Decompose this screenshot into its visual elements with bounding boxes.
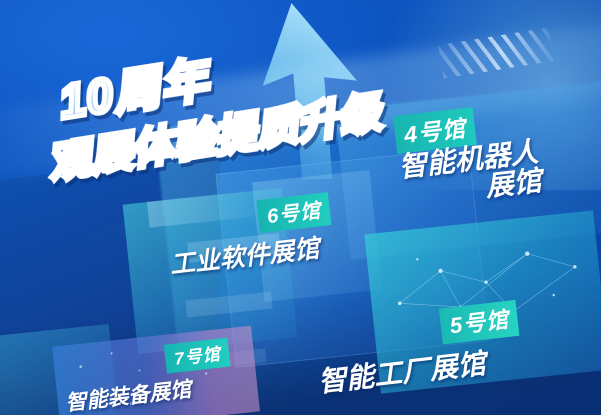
hall-badge-5: 5号馆 — [439, 300, 520, 345]
poster-title: 10周年 观展体验提质升级 — [36, 42, 456, 172]
hall-card-4[interactable]: 4号馆 智能机器人 展馆 — [393, 100, 543, 210]
hall-card-7[interactable]: 7号馆 智能装备展馆 — [164, 338, 235, 406]
hall-card-5[interactable]: 5号馆 智能工厂展馆 — [439, 300, 525, 386]
hall-badge-6: 6号馆 — [256, 192, 331, 233]
poster-canvas: 10周年 观展体验提质升级 4号馆 智能机器人 展馆 6号馆 工业软件展馆 5号… — [0, 0, 601, 415]
hall-card-6[interactable]: 6号馆 工业软件展馆 — [256, 192, 336, 271]
hall-badge-7: 7号馆 — [164, 338, 231, 374]
